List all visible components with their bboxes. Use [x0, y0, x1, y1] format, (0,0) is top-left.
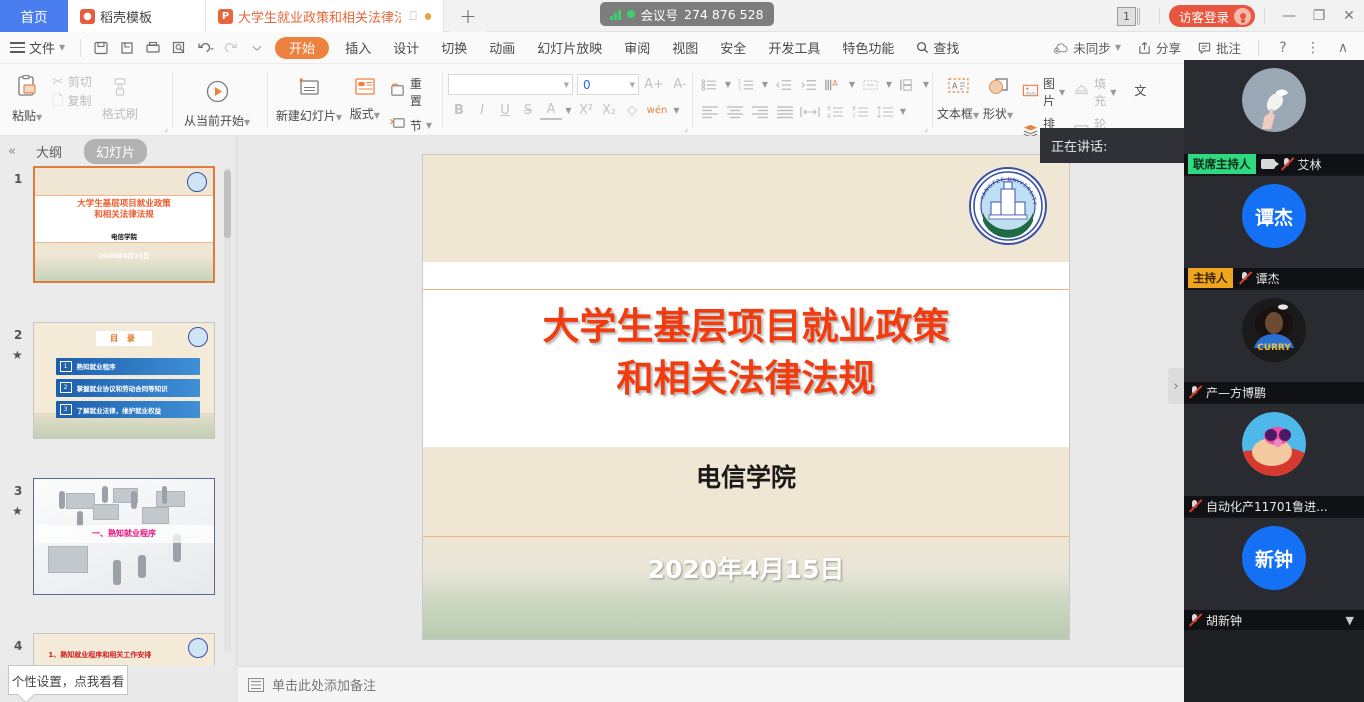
slide-number: 2: [14, 328, 22, 342]
tab-label: 特色功能: [842, 38, 894, 57]
textbox-label: 文本框▼: [937, 105, 979, 122]
animation-star-icon: ★: [12, 504, 23, 518]
subscript-button[interactable]: X₂: [598, 100, 620, 121]
collapse-left-icon[interactable]: «: [8, 144, 14, 159]
participant-name-row: 联席主持人 艾林: [1184, 154, 1364, 174]
chevron-down-icon: ▼: [630, 81, 635, 89]
restore-icon[interactable]: ❐: [1304, 0, 1334, 32]
tab-home-label: 首页: [21, 6, 48, 26]
line-spacing-icon[interactable]: [873, 101, 896, 122]
comment-icon: [1197, 41, 1212, 55]
mic-muted-icon: [1188, 385, 1201, 399]
thumb-title-line1: 大学生基层项目就业政策: [35, 199, 213, 210]
unsaved-dot-icon: [425, 13, 431, 20]
decrease-font-size-icon[interactable]: A-: [669, 74, 691, 95]
avatar-initials: 新钟: [1255, 545, 1293, 572]
participant-name: 谭杰: [1256, 270, 1280, 287]
reset-button[interactable]: 重置: [385, 74, 436, 110]
slide-panel-scrollbar-thumb[interactable]: [224, 170, 231, 238]
participant-name-row: 主持人 谭杰: [1184, 268, 1364, 288]
shapes-button[interactable]: 形状▼: [978, 72, 1018, 126]
slide-date[interactable]: 2020年4月15日: [423, 550, 1069, 586]
guest-login-button[interactable]: 访客登录: [1169, 5, 1255, 27]
svg-text:3: 3: [738, 86, 741, 91]
speaking-tooltip-text: 正在讲话:: [1051, 136, 1107, 155]
tab-review[interactable]: 审阅: [613, 32, 661, 64]
menubar-right-group: 未同步 ▼ 分享 批注 ? ⋮ ∧: [1044, 32, 1364, 64]
chevron-down-icon[interactable]: ▼: [1346, 614, 1354, 627]
hamburger-icon: [10, 42, 25, 53]
font-controls-row: ▼ 0 ▼ A+ A-: [448, 74, 691, 95]
window-controls: 1 访客登录 — ❐ ✕: [1117, 0, 1364, 32]
font-color-button[interactable]: A: [540, 101, 562, 120]
close-icon[interactable]: ✕: [1334, 0, 1364, 32]
speaking-tooltip: 正在讲话:: [1040, 128, 1184, 163]
participant-name: 胡新钟: [1206, 612, 1242, 629]
tab-label: 视图: [672, 38, 698, 57]
fill-button[interactable]: 填充 ▼: [1069, 74, 1120, 110]
slide-thumbnail[interactable]: 大学生基层项目就业政策 和相关法律法规 电信学院 2020年4月15日: [33, 166, 215, 283]
share-icon: [1137, 41, 1152, 55]
avatar: 谭杰: [1242, 184, 1306, 248]
meeting-participants-panel: 联席主持人 艾林 谭杰 主持人 谭杰: [1184, 60, 1364, 702]
new-tab-label: +: [460, 4, 477, 28]
thumb-toc-text: 了解就业法律，维护就业权益: [77, 405, 162, 415]
role-badge-cohost: 联席主持人: [1188, 154, 1256, 174]
participant-name-row: 自动化产11701鲁进...: [1184, 496, 1364, 516]
chevron-down-icon: ▼: [564, 81, 569, 89]
divider: [1264, 8, 1265, 24]
chevron-down-icon: ▼: [1115, 43, 1121, 52]
slide-subtitle[interactable]: 电信学院: [423, 458, 1069, 494]
slide-thumbnail[interactable]: 目 录 1 熟知就业程序 2 掌握就业协议和劳动合同等知识 3: [33, 322, 215, 439]
thumb-title: 一、熟知就业程序: [34, 528, 214, 539]
tab-count-badge[interactable]: 1: [1117, 7, 1136, 26]
numbered-list-icon[interactable]: 123: [735, 74, 758, 95]
chevron-down-icon[interactable]: ▼: [671, 100, 682, 121]
slide-panel: « 大纲 幻灯片 1: [0, 136, 237, 666]
justify-icon[interactable]: [773, 101, 796, 122]
paragraph-row-2: ▼: [698, 101, 908, 122]
reset-icon: [389, 82, 406, 102]
layout-label: 版式▼: [350, 105, 380, 122]
new-tab-button[interactable]: +: [450, 0, 486, 32]
tab-label: 查找: [933, 38, 959, 57]
shapes-icon: [986, 76, 1011, 103]
tab-design[interactable]: 设计: [382, 32, 430, 64]
next-slide-arrow-icon[interactable]: ›: [1168, 368, 1184, 404]
thumb-toc-number: 1: [60, 361, 72, 372]
layout-button[interactable]: 版式▼: [345, 72, 385, 126]
textbox-button[interactable]: A 文本框▼: [938, 72, 978, 126]
copy-label: 复制: [67, 92, 91, 109]
thumb-toc-item: 2 掌握就业协议和劳动合同等知识: [56, 379, 200, 396]
ppt-file-icon: P: [218, 9, 233, 24]
shapes-label: 形状▼: [983, 105, 1013, 122]
font-style-row: B I U S A ▼ X² X₂ ◇ wén ▼: [448, 100, 682, 121]
minimize-icon[interactable]: —: [1274, 0, 1304, 32]
strikethrough-button[interactable]: S: [517, 100, 539, 121]
university-logo-icon: YANGTZE UNIVERSITY: [969, 167, 1047, 245]
tab-view[interactable]: 视图: [661, 32, 709, 64]
slide-thumbnail[interactable]: 1、熟知就业程序和相关工作安排: [33, 633, 215, 666]
slide-thumbnail-item[interactable]: 3 ★: [0, 478, 237, 597]
browser-tab-bar: 首页 ● 稻壳模板 P 大学生就业政策和相关法律法规 ⎕ + 会议号 274 8…: [0, 0, 1364, 32]
thumbnail-content: 一、熟知就业程序: [34, 479, 214, 594]
print-preview-icon[interactable]: [166, 35, 192, 61]
svg-text:CURRY: CURRY: [1257, 343, 1291, 353]
thumb-title: 1、熟知就业程序和相关工作安排: [48, 650, 151, 660]
chevron-down-icon[interactable]: ▼: [884, 74, 894, 95]
italic-button[interactable]: I: [471, 100, 493, 121]
redo-icon[interactable]: [218, 35, 244, 61]
meeting-prefix-label: 会议号: [641, 5, 679, 24]
distribute-icon[interactable]: [798, 101, 821, 122]
chevron-down-icon[interactable]: ▼: [847, 74, 857, 95]
thumb-date: 2020年4月15日: [35, 250, 213, 260]
slide-panel-header: « 大纲 幻灯片: [0, 136, 236, 166]
section-label: 节: [410, 117, 422, 134]
align-left-icon[interactable]: [698, 101, 721, 122]
font-size-input[interactable]: 0 ▼: [577, 74, 639, 95]
new-slide-button[interactable]: 新建幻灯片▼: [273, 72, 345, 128]
notes-placeholder: 单击此处添加备注: [272, 675, 376, 694]
customize-toolbar-icon[interactable]: [244, 35, 270, 61]
mic-muted-icon: [1280, 157, 1293, 171]
start-from-current-label: 从当前开始▼: [184, 112, 250, 129]
participant-tile[interactable]: 自动化产11701鲁进...: [1184, 402, 1364, 516]
tab-label: 大学生就业政策和相关法律法规: [238, 7, 401, 26]
fill-label: 填充: [1094, 75, 1106, 109]
svg-text:A: A: [833, 78, 839, 87]
print-icon[interactable]: [140, 35, 166, 61]
tab-label: 幻灯片放映: [537, 38, 602, 57]
personalization-tooltip[interactable]: 个性设置，点我看看: [8, 665, 128, 695]
section-button[interactable]: 节 ▼: [385, 114, 436, 136]
copy-icon: 🗋: [52, 93, 63, 109]
slide-thumbnail-item[interactable]: 4 1、熟知就业程序和相关工作安排: [0, 633, 237, 666]
section-icon: [389, 115, 406, 135]
tab-transition[interactable]: 切换: [430, 32, 478, 64]
participant-name: 产—方博鹏: [1206, 384, 1266, 401]
tab-slideshow[interactable]: 幻灯片放映: [526, 32, 613, 64]
workspace: « 大纲 幻灯片 1: [0, 136, 1184, 702]
participant-tile[interactable]: 谭杰 主持人 谭杰: [1184, 174, 1364, 288]
bullet-list-icon[interactable]: [698, 74, 721, 95]
tab-label: 动画: [489, 38, 515, 57]
tab-insert[interactable]: 插入: [334, 32, 382, 64]
role-badge-host: 主持人: [1188, 268, 1233, 288]
font-size-value: 0: [583, 78, 591, 92]
notes-bar[interactable]: 单击此处添加备注: [238, 666, 1184, 702]
paste-label: 粘贴▼: [12, 107, 42, 124]
tab-start[interactable]: 开始: [275, 37, 329, 59]
mic-muted-icon: [1188, 499, 1201, 513]
tab-find[interactable]: 查找: [905, 32, 970, 64]
copy-button[interactable]: 🗋 复制: [48, 91, 96, 110]
font-name-input[interactable]: ▼: [448, 74, 573, 95]
ribbon-toolbar: 粘贴▼ ✂ 剪切 🗋 复制 格式刷: [0, 64, 1364, 136]
thumbnail-content: 大学生基层项目就业政策 和相关法律法规 电信学院 2020年4月15日: [35, 168, 213, 281]
picture-button[interactable]: 图片 ▼: [1018, 74, 1069, 110]
tab-label: 开始: [289, 38, 315, 57]
tab-outline[interactable]: 大纲: [24, 139, 74, 164]
monitor-icon[interactable]: ⎕: [410, 9, 417, 24]
ribbon-group-present: 从当前开始▼: [172, 64, 267, 136]
divider: [80, 39, 81, 57]
collapse-ribbon-icon[interactable]: ∧: [1328, 32, 1358, 64]
animation-star-icon: ★: [12, 348, 23, 362]
tab-presentation[interactable]: P 大学生就业政策和相关法律法规 ⎕: [206, 0, 444, 32]
divider: [1159, 8, 1160, 24]
start-from-current-button[interactable]: 从当前开始▼: [178, 74, 256, 133]
tooltip-text: 个性设置，点我看看: [12, 671, 125, 690]
font-dialog-launcher-icon[interactable]: ⌟: [684, 124, 688, 134]
slide-title-line1: 大学生基层项目就业政策: [423, 301, 1069, 353]
cut-button[interactable]: ✂ 剪切: [48, 72, 96, 91]
cut-label: 剪切: [68, 73, 92, 90]
tab-label: 设计: [393, 38, 419, 57]
reset-label: 重置: [410, 75, 432, 109]
thumb-logo-icon: [188, 327, 208, 347]
participant-name: 自动化产11701鲁进...: [1206, 498, 1328, 515]
play-circle-icon: [204, 78, 231, 110]
more-drawing-label: 文: [1134, 82, 1146, 99]
participant-name: 艾林: [1298, 156, 1322, 173]
file-menu-button[interactable]: 文件 ▼: [0, 38, 73, 57]
space-after-icon[interactable]: [848, 101, 871, 122]
slide-number: 4: [14, 639, 22, 653]
tab-stack-icon: [1137, 8, 1140, 25]
sync-status-button[interactable]: 未同步 ▼: [1044, 38, 1129, 57]
notes-icon: [248, 678, 264, 692]
space-before-icon[interactable]: [823, 101, 846, 122]
paste-icon: [14, 74, 40, 105]
increase-font-size-icon[interactable]: A+: [643, 74, 665, 95]
thumb-toc-text: 掌握就业协议和劳动合同等知识: [77, 383, 168, 393]
clear-format-icon[interactable]: ◇: [621, 100, 643, 121]
slide-band-white-upper: [423, 262, 1069, 290]
chevron-down-icon[interactable]: ▼: [921, 74, 931, 95]
chevron-down-icon[interactable]: ▼: [563, 100, 574, 121]
underline-button[interactable]: U: [494, 100, 516, 121]
picture-icon: [1022, 83, 1039, 102]
save-icon[interactable]: [88, 35, 114, 61]
avatar: CURRY: [1242, 298, 1306, 362]
meeting-id-pill[interactable]: 会议号 274 876 528: [600, 2, 774, 26]
avatar-initials: 谭杰: [1255, 203, 1293, 230]
tab-label: 安全: [720, 38, 746, 57]
ribbon-group-paragraph: ▼ 123 ▼ A ▼ ▼ ▼ ▼: [692, 64, 932, 136]
format-painter-label: 格式刷: [102, 105, 138, 122]
chevron-down-icon[interactable]: ▼: [723, 74, 733, 95]
decrease-indent-icon[interactable]: [772, 74, 795, 95]
chevron-down-icon[interactable]: ▼: [760, 74, 770, 95]
superscript-button[interactable]: X²: [575, 100, 597, 121]
comment-label: 批注: [1216, 38, 1241, 57]
format-painter-icon: [109, 76, 131, 103]
slide-number: 3: [14, 484, 22, 498]
status-dot-icon: [627, 10, 635, 18]
thumb-title: 大学生基层项目就业政策 和相关法律法规: [35, 199, 213, 221]
camera-icon: [1261, 159, 1275, 169]
align-right-icon[interactable]: [748, 101, 771, 122]
thumb-toc-text: 熟知就业程序: [77, 361, 116, 371]
ribbon-group-drawing: A 文本框▼ 形状▼ 图片: [932, 64, 1132, 136]
thumb-subtitle: 电信学院: [35, 231, 213, 241]
avatar: [1242, 68, 1306, 132]
thumb-toc-number: 3: [60, 404, 72, 415]
svg-text:A: A: [952, 82, 958, 91]
paste-button[interactable]: 粘贴▼: [6, 70, 48, 128]
save-as-icon[interactable]: [114, 35, 140, 61]
tab-developer[interactable]: 开发工具: [757, 32, 831, 64]
dove-icon: ●: [80, 9, 95, 24]
participant-tile[interactable]: CURRY 产—方博鹏: [1184, 288, 1364, 402]
slide-thumbnail-item[interactable]: 1 大学生基层项目就业政策 和相关法律法规 电信学: [0, 166, 237, 285]
participant-tile[interactable]: 新钟 胡新钟 ▼: [1184, 516, 1364, 630]
new-slide-label: 新建幻灯片▼: [276, 107, 342, 124]
thumb-toc-item: 3 了解就业法律，维护就业权益: [56, 401, 200, 418]
tab-security[interactable]: 安全: [709, 32, 757, 64]
fill-icon: [1073, 83, 1090, 102]
textbox-icon: A: [946, 76, 971, 103]
avatar: [1242, 412, 1306, 476]
participant-tile[interactable]: 联席主持人 艾林: [1184, 60, 1364, 174]
align-center-icon[interactable]: [723, 101, 746, 122]
undo-icon[interactable]: [192, 35, 218, 61]
participant-name-row: 产—方博鹏: [1184, 382, 1364, 402]
slide-thumbnail-item[interactable]: 2 ★ 目 录 1 熟知就业程序: [0, 322, 237, 441]
sync-label: 未同步: [1073, 38, 1111, 57]
bold-button[interactable]: B: [448, 100, 470, 121]
tab-label: 审阅: [624, 38, 650, 57]
mic-muted-icon: [1238, 271, 1251, 285]
slide-number: 1: [14, 172, 22, 186]
ribbon-group-slides: 新建幻灯片▼ 版式▼ 重置: [267, 64, 442, 136]
more-options-icon[interactable]: ⋮: [1298, 32, 1328, 64]
tab-home[interactable]: 首页: [0, 0, 68, 32]
menu-bar: 文件 ▼ 开始 插入 设计 切换 动画 幻灯片放映 审阅 视图: [0, 32, 1364, 64]
signal-strength-icon: [610, 9, 621, 20]
smartart-icon[interactable]: [896, 74, 919, 95]
increase-indent-icon[interactable]: [797, 74, 820, 95]
thumb-title-line2: 和相关法律法规: [35, 210, 213, 221]
phonetic-guide-button[interactable]: wén: [644, 100, 670, 121]
chevron-down-icon[interactable]: ▼: [898, 101, 908, 122]
slide-title-line2: 和相关法律法规: [423, 353, 1069, 405]
thumb-logo-icon: [188, 638, 208, 658]
new-slide-icon: [296, 76, 322, 105]
share-label: 分享: [1156, 38, 1181, 57]
tab-docer-template[interactable]: ● 稻壳模板: [68, 0, 206, 32]
thumbnail-content: 目 录 1 熟知就业程序 2 掌握就业协议和劳动合同等知识 3: [34, 323, 214, 438]
mic-muted-icon: [1188, 613, 1201, 627]
tab-label: 插入: [345, 38, 371, 57]
thumb-toc-number: 2: [60, 382, 72, 393]
meeting-number: 274 876 528: [684, 7, 764, 22]
format-painter-button[interactable]: 格式刷: [96, 72, 144, 126]
text-direction-icon[interactable]: A: [822, 74, 845, 95]
current-slide[interactable]: YANGTZE UNIVERSITY 大学生基层项目就业政策 和相关法律法规 电…: [422, 154, 1070, 640]
slide-thumbnail-list[interactable]: 1 大学生基层项目就业政策 和相关法律法规 电信学: [0, 166, 237, 666]
divider: [1258, 40, 1259, 56]
clipboard-dialog-launcher-icon[interactable]: ⌟: [164, 124, 168, 134]
search-icon: [916, 41, 929, 54]
thumbnail-content: 1、熟知就业程序和相关工作安排: [34, 634, 214, 666]
cloud-sync-off-icon: [1052, 41, 1069, 55]
thumb-toc-item: 1 熟知就业程序: [56, 358, 200, 375]
slide-thumbnail[interactable]: 一、熟知就业程序: [33, 478, 215, 595]
comment-button[interactable]: 批注: [1189, 38, 1249, 57]
slide-canvas-area: YANGTZE UNIVERSITY 大学生基层项目就业政策 和相关法律法规 电…: [238, 136, 1184, 666]
participant-name-row: 胡新钟 ▼: [1184, 610, 1364, 630]
scissors-icon: ✂: [52, 74, 64, 90]
tab-animation[interactable]: 动画: [478, 32, 526, 64]
picture-label: 图片: [1043, 75, 1055, 109]
ribbon-group-font: ▼ 0 ▼ A+ A- B I U S A ▼ X² X₂ ◇: [442, 64, 692, 136]
slide-title[interactable]: 大学生基层项目就业政策 和相关法律法规: [423, 301, 1069, 405]
help-icon[interactable]: ?: [1268, 32, 1298, 64]
thumb-logo-icon: [187, 172, 207, 192]
chevron-down-icon: ▼: [59, 43, 65, 52]
thumb-toc-title: 目 录: [96, 331, 152, 346]
align-text-icon[interactable]: [859, 74, 882, 95]
ribbon-group-clipboard: 粘贴▼ ✂ 剪切 🗋 复制 格式刷: [0, 64, 172, 136]
tab-label: 开发工具: [768, 38, 820, 57]
guest-login-label: 访客登录: [1179, 7, 1229, 26]
paragraph-dialog-launcher-icon[interactable]: ⌟: [924, 124, 928, 134]
more-drawing-button[interactable]: 文: [1120, 78, 1160, 103]
share-button[interactable]: 分享: [1129, 38, 1189, 57]
file-menu-label: 文件: [29, 38, 55, 57]
tab-label: 切换: [441, 38, 467, 57]
tab-slides[interactable]: 幻灯片: [84, 139, 147, 164]
slide-panel-scrollbar-track[interactable]: [224, 168, 231, 652]
tab-label: 稻壳模板: [100, 7, 152, 26]
tab-features[interactable]: 特色功能: [831, 32, 905, 64]
paragraph-row-1: ▼ 123 ▼ A ▼ ▼ ▼: [698, 74, 931, 95]
avatar: [1234, 8, 1251, 25]
layout-icon: [353, 76, 377, 103]
avatar: 新钟: [1242, 526, 1306, 590]
